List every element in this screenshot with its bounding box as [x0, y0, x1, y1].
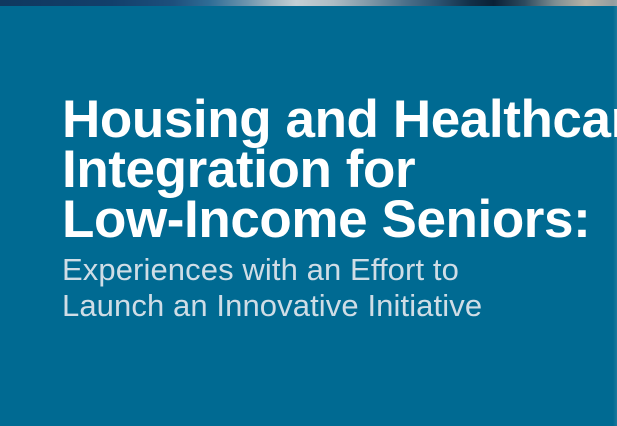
page-right-edge — [613, 0, 617, 426]
cover-title: Housing and Healthcare Integration for L… — [62, 95, 592, 245]
subtitle-line-2: Launch an Innovative Initiative — [62, 288, 592, 324]
cover-subtitle: Experiences with an Effort to Launch an … — [62, 252, 592, 324]
title-line-2: Integration for — [62, 145, 592, 195]
title-line-1: Housing and Healthcare — [62, 95, 592, 145]
report-cover-page: Housing and Healthcare Integration for L… — [0, 0, 617, 426]
cover-photo-strip — [0, 0, 617, 6]
subtitle-line-1: Experiences with an Effort to — [62, 252, 592, 288]
title-line-3: Low-Income Seniors: — [62, 195, 592, 245]
